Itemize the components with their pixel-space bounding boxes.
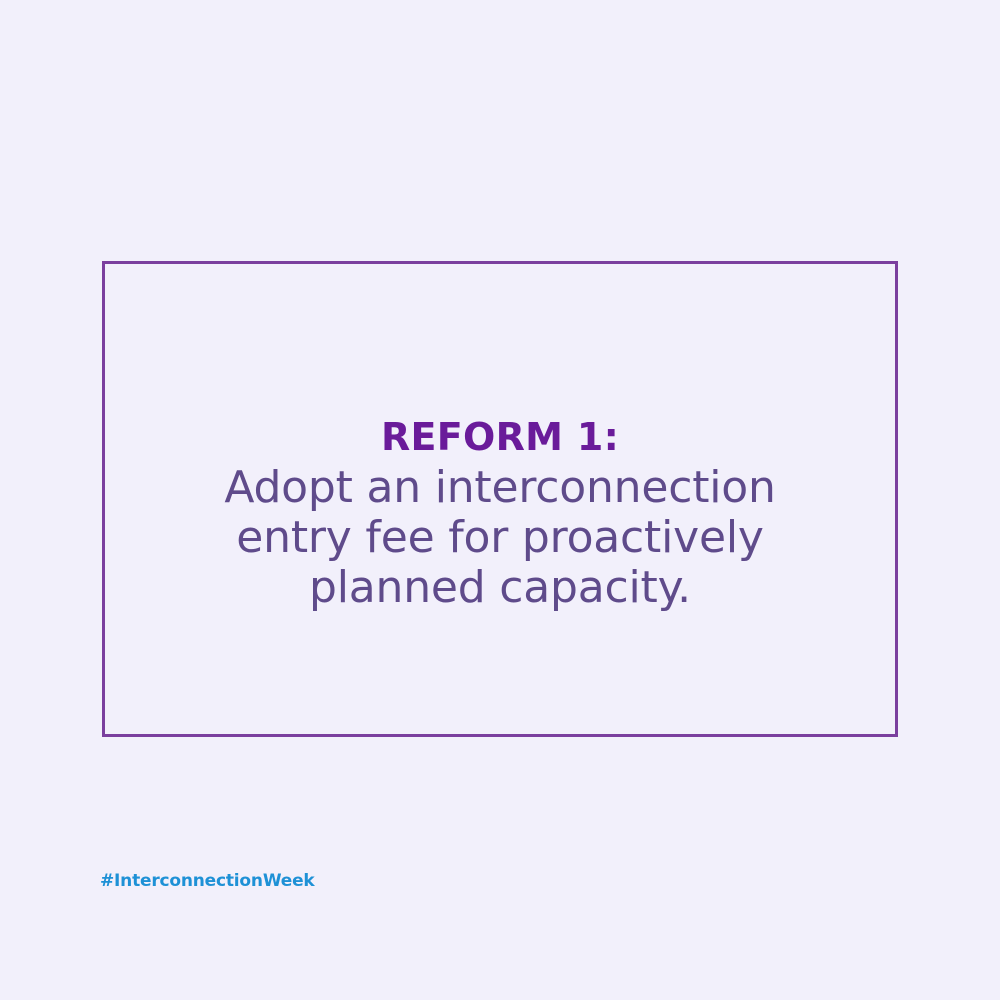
reform-body-line-3: planned capacity.	[105, 563, 895, 613]
reform-body-text: Adopt an interconnection entry fee for p…	[105, 463, 895, 613]
slide-canvas: REFORM 1: Adopt an interconnection entry…	[0, 0, 1000, 1000]
reform-body-line-2: entry fee for proactively	[105, 513, 895, 563]
reform-body-line-1: Adopt an interconnection	[105, 463, 895, 513]
callout-text-block: REFORM 1: Adopt an interconnection entry…	[105, 411, 895, 613]
reform-heading: REFORM 1:	[105, 411, 895, 463]
hashtag-label: #InterconnectionWeek	[100, 871, 315, 891]
reform-callout-box: REFORM 1: Adopt an interconnection entry…	[102, 261, 898, 737]
